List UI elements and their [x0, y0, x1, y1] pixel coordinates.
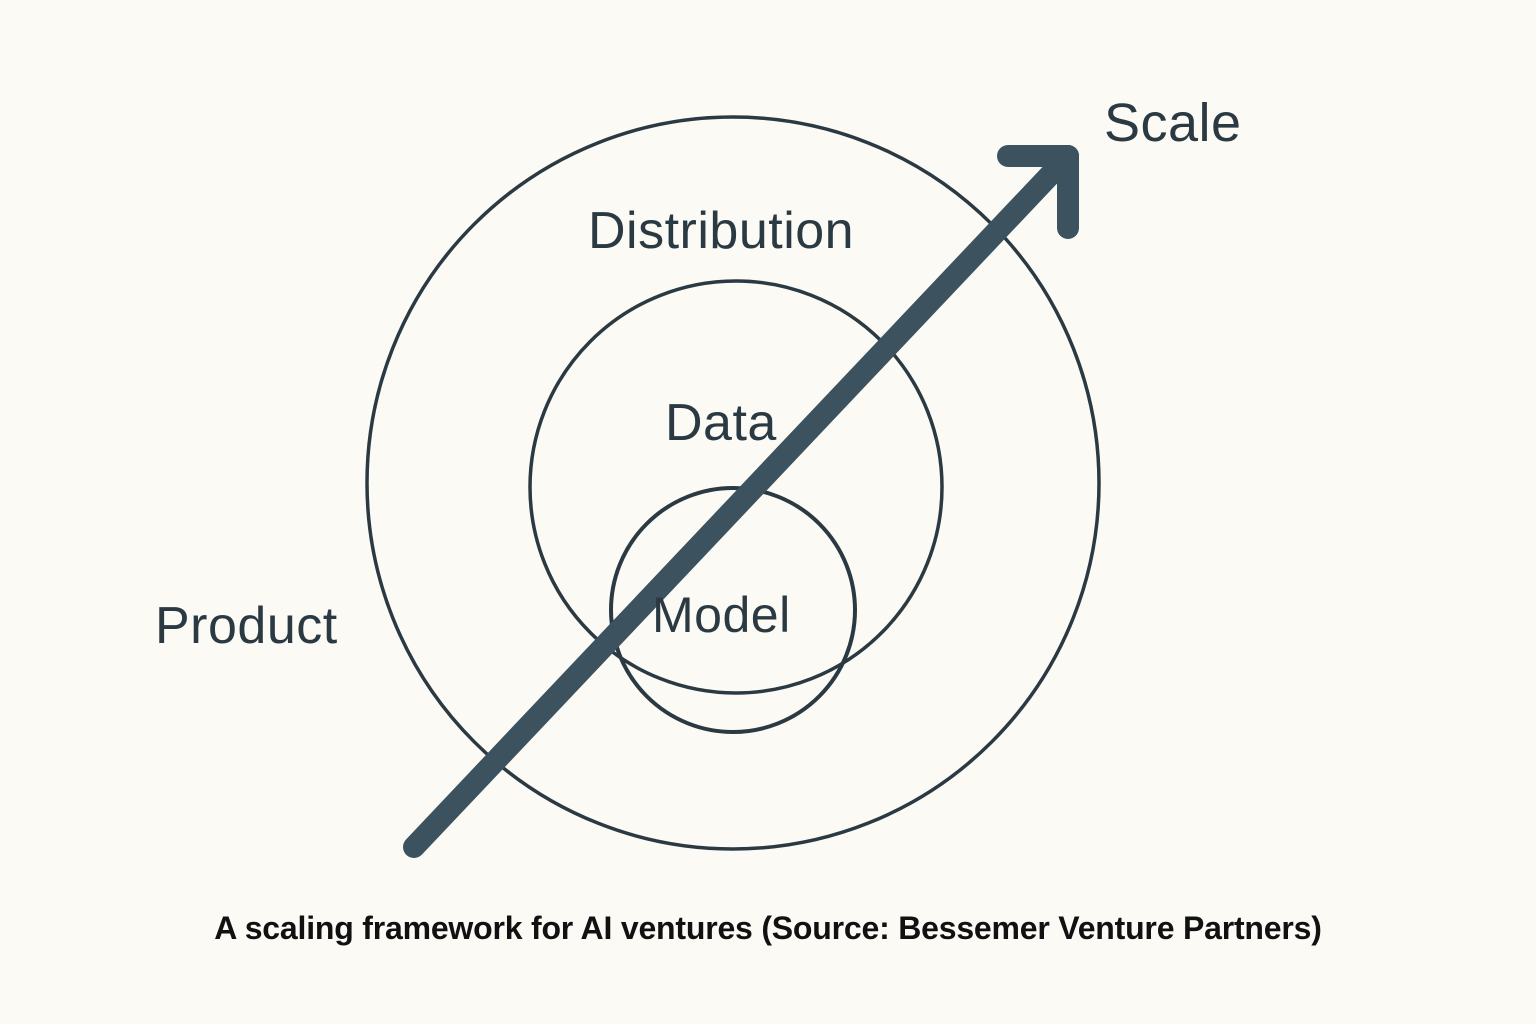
scaling-framework-diagram [0, 0, 1536, 1024]
ring-label-product: Product [155, 600, 338, 652]
arrow-label-scale: Scale [1104, 96, 1242, 150]
ring-label-model: Model [652, 590, 791, 640]
diagram-caption: A scaling framework for AI ventures (Sou… [0, 909, 1536, 947]
ring-label-data: Data [665, 397, 777, 449]
ring-label-distribution: Distribution [588, 205, 854, 257]
diagram-canvas: Distribution Data Model Product Scale A … [0, 0, 1536, 1024]
